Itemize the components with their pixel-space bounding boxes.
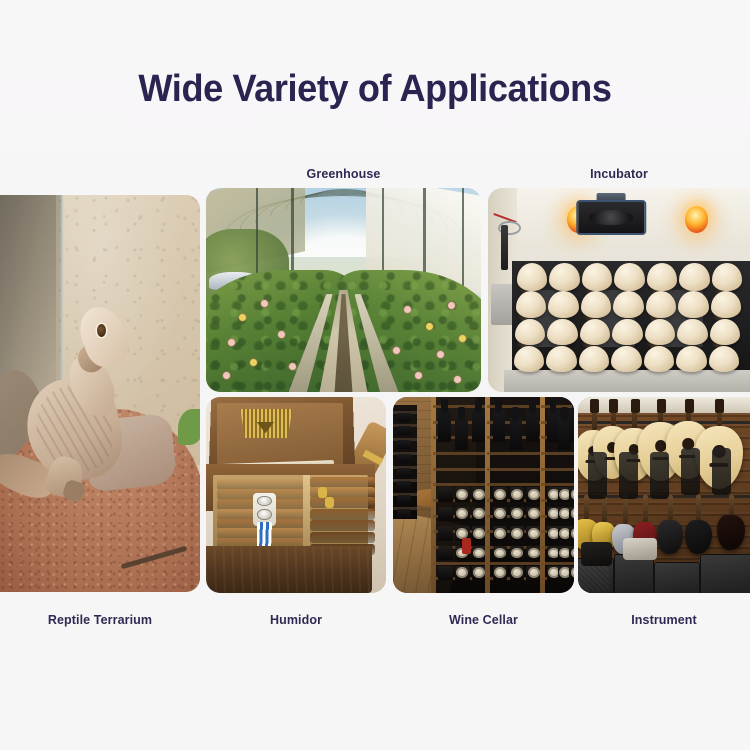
caption-humidor: Humidor xyxy=(206,613,386,627)
caption-wine-cellar: Wine Cellar xyxy=(393,613,574,627)
application-gallery-page: Wide Variety of Applications Greenhouse … xyxy=(0,0,750,750)
page-title: Wide Variety of Applications xyxy=(19,68,732,111)
photo-incubator[interactable] xyxy=(488,188,750,392)
photo-reptile-terrarium[interactable] xyxy=(0,195,200,592)
photo-greenhouse[interactable] xyxy=(206,188,481,392)
photo-humidor[interactable] xyxy=(206,397,386,593)
caption-incubator: Incubator xyxy=(488,167,750,181)
caption-reptile-terrarium: Reptile Terrarium xyxy=(0,613,200,627)
photo-wine-cellar[interactable] xyxy=(393,397,574,593)
caption-instrument: Instrument xyxy=(578,613,750,627)
caption-greenhouse: Greenhouse xyxy=(206,167,481,181)
photo-instrument[interactable] xyxy=(578,397,750,593)
